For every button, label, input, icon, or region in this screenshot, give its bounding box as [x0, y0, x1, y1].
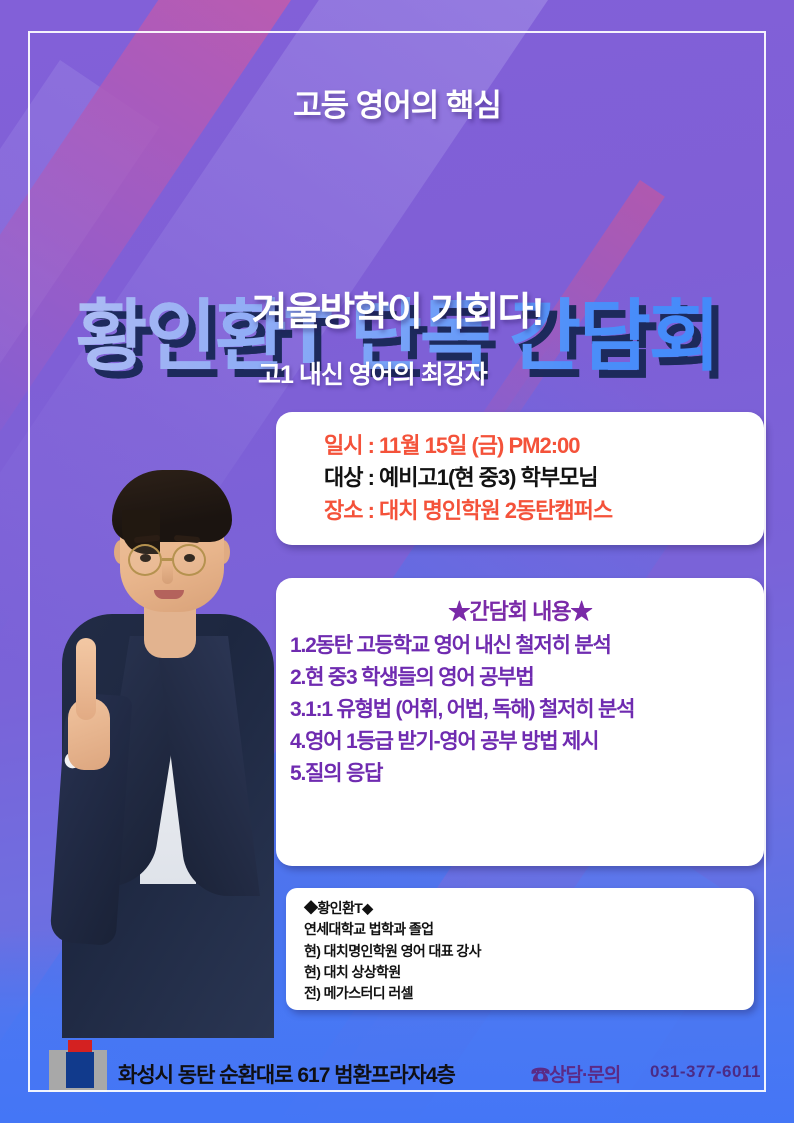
list-item: 3.1:1 유형법 (어휘, 어법, 독해) 철저히 분석 [290, 694, 754, 726]
instructor-photo [48, 448, 284, 1038]
glasses-lens-left [128, 544, 162, 576]
event-info-card: 일시 : 11월 15일 (금) PM2:00 대상 : 예비고1(현 중3) … [276, 412, 764, 545]
mouth [154, 590, 184, 599]
logo-blue-block [66, 1052, 94, 1088]
pointing-finger [76, 638, 96, 720]
profile-line: 현) 대치 상상학원 [304, 962, 754, 983]
event-audience-line: 대상 : 예비고1(현 중3) 학부모님 [324, 462, 764, 495]
address-text: 화성시 동탄 순환대로 617 범환프라자4층 [118, 1059, 455, 1089]
nose [162, 564, 173, 584]
event-date-line: 일시 : 11월 15일 (금) PM2:00 [324, 430, 764, 463]
event-place-line: 장소 : 대치 명인학원 2동탄캠퍼스 [324, 495, 764, 528]
glasses-lens-right [172, 544, 206, 576]
list-item: 5.질의 응답 [290, 758, 754, 790]
profile-line: 전) 메가스터디 러셀 [304, 983, 754, 1004]
hair [112, 470, 232, 542]
main-title-wrap: 황인환T 단독 간담회 황인환T 단독 간담회 [0, 148, 794, 248]
agenda-list: 1.2동탄 고등학교 영어 내신 철저히 분석 2.현 중3 학생들의 영어 공… [276, 630, 764, 790]
agenda-card: ★간담회 내용★ 1.2동탄 고등학교 영어 내신 철저히 분석 2.현 중3 … [276, 578, 764, 866]
contact-label: ☎상담·문의 [531, 1060, 620, 1087]
subtitle-text: 겨울방학이 기회다! [0, 281, 794, 337]
list-item: 1.2동탄 고등학교 영어 내신 철저히 분석 [290, 630, 754, 662]
profile-line: 연세대학교 법학과 졸업 [304, 919, 754, 940]
profile-name: ◆황인환T◆ [304, 898, 754, 919]
list-item: 2.현 중3 학생들의 영어 공부법 [290, 662, 754, 694]
academy-logo-icon [49, 1050, 107, 1092]
tagline-text: 고1 내신 영어의 최강자 [258, 355, 487, 391]
glasses-bridge [162, 558, 174, 561]
logo-red-bar [68, 1040, 92, 1052]
list-item: 4.영어 1등급 받기-영어 공부 방법 제시 [290, 726, 754, 758]
kicker-text: 고등 영어의 핵심 [0, 80, 794, 125]
profile-line: 현) 대치명인학원 영어 대표 강사 [304, 941, 754, 962]
poster-canvas: 고등 영어의 핵심 황인환T 단독 간담회 황인환T 단독 간담회 겨울방학이 … [0, 0, 794, 1123]
agenda-title: ★간담회 내용★ [276, 594, 764, 626]
instructor-profile-card: ◆황인환T◆ 연세대학교 법학과 졸업 현) 대치명인학원 영어 대표 강사 현… [286, 888, 754, 1010]
phone-number[interactable]: 031-377-6011 [650, 1062, 761, 1082]
